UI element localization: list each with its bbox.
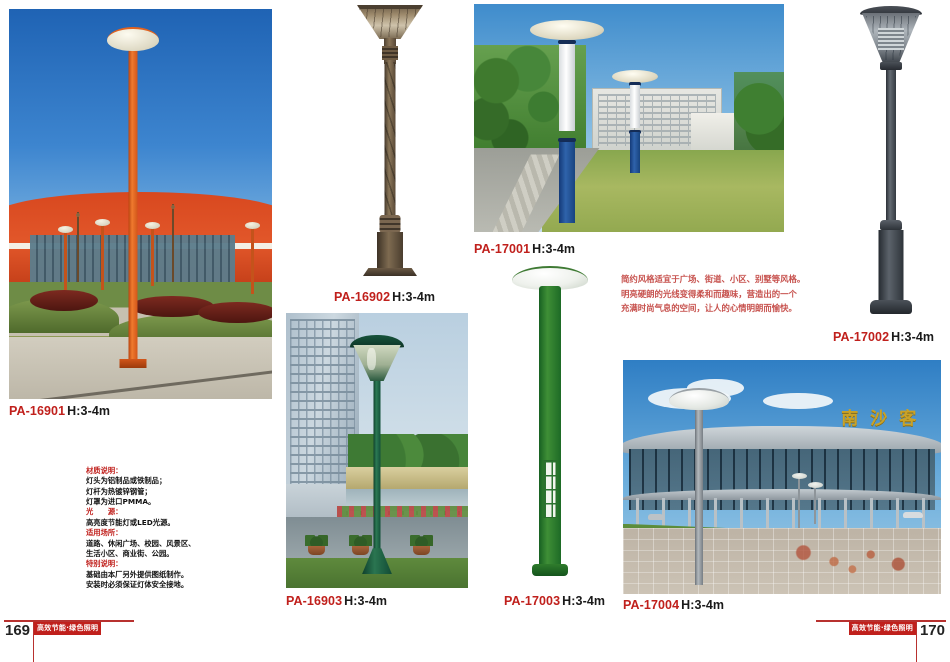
lamp-post-far [630, 79, 640, 173]
product-code: PA-17001 [474, 242, 530, 256]
lamp-post-near [559, 34, 575, 223]
base-plate [363, 268, 417, 276]
product-height: H:3-4m [681, 598, 724, 612]
product-height: H:3-4m [392, 290, 435, 304]
paving-pattern [782, 543, 935, 576]
reflector-louvers [878, 28, 904, 50]
blue-pole-base [630, 132, 640, 173]
product-photo-pa-16903 [286, 313, 468, 588]
caption-pa-16901: PA-16901H:3-4m [9, 404, 110, 418]
product-code: PA-16901 [9, 404, 65, 418]
lamp-dome [530, 20, 604, 40]
catalog-page: PA-16901H:3-4m PA-16902H:3-4m [0, 0, 950, 654]
parked-car [648, 514, 664, 520]
lamp-base [879, 230, 904, 302]
product-code: PA-17004 [623, 598, 679, 612]
spec-line: 安装时必须保证灯体安全接地。 [86, 580, 195, 590]
lamp-post-pole [374, 379, 381, 569]
product-height: H:3-4m [67, 404, 110, 418]
base-collar [880, 220, 902, 230]
spec-line: 灯罩为进口PMMA。 [86, 497, 195, 507]
spec-heading-special-note: 特别说明： [86, 559, 195, 569]
spec-line: 生活小区、商业街、公园。 [86, 549, 195, 559]
product-photo-pa-16902 [325, 2, 455, 282]
spec-line: 高亮度节能灯或LED光源。 [86, 518, 195, 528]
pergola [346, 467, 468, 489]
red-shrub [198, 302, 272, 323]
cloud [763, 393, 833, 409]
background-lamp [151, 227, 154, 286]
lantern-base [880, 62, 902, 70]
product-height: H:3-4m [344, 594, 387, 608]
product-code: PA-17002 [833, 330, 889, 344]
product-photo-pa-17001 [474, 4, 784, 232]
lamp-post-pole [886, 70, 896, 222]
lamp-dome [107, 27, 159, 51]
page-number-left: 169 [5, 622, 30, 639]
caption-pa-17002: PA-17002H:3-4m [833, 330, 934, 344]
base-plate [532, 564, 568, 576]
blue-pole-base [559, 142, 575, 223]
caption-pa-16902: PA-16902H:3-4m [334, 290, 435, 304]
base-collar [380, 215, 401, 233]
potted-plant [413, 544, 430, 555]
footer-left: 169 高效节能·绿色照明 [0, 608, 190, 654]
blurb-line: 充满时尚气息的空间，让人的心情明朗而愉快。 [621, 301, 805, 316]
lamp-base [377, 232, 403, 270]
spec-line: 灯杆为热镀锌钢管； [86, 487, 195, 497]
base-plate [870, 300, 912, 314]
lamp-post-pole [539, 286, 561, 566]
potted-plant [352, 544, 369, 555]
blurb-line: 明亮硬朗的光线变得柔和而趣味，营造出的一个 [621, 287, 805, 302]
footer-brand-right: 高效节能·绿色照明 [849, 622, 916, 635]
product-photo-pa-17004: 南沙客 [623, 360, 941, 594]
product-photo-pa-17002 [838, 2, 944, 320]
background-lamp [101, 224, 104, 290]
caption-pa-17003: PA-17003H:3-4m [504, 594, 605, 608]
lamp-post-pole [128, 32, 137, 367]
illuminated-grid-window [544, 460, 557, 518]
caption-pa-16903: PA-16903H:3-4m [286, 594, 387, 608]
product-code: PA-17003 [504, 594, 560, 608]
illuminated-shaft [559, 44, 575, 131]
product-photo-pa-17003 [495, 258, 605, 588]
spec-heading-applications: 适用场所： [86, 528, 195, 538]
spec-heading-material: 材质说明： [86, 466, 195, 476]
spec-heading-light-source: 光 源： [86, 507, 195, 517]
background-lamp [251, 227, 254, 293]
marketing-blurb: 简约风格适宜于广场、街道、小区、别墅等风格。 明亮硬朗的光线变得柔和而趣味，营造… [621, 272, 805, 316]
lamp-dome [669, 388, 729, 410]
pole-twist-pattern [385, 62, 396, 217]
spec-line: 灯头为铝制品或铁制品； [86, 476, 195, 486]
background-lamp [64, 231, 67, 290]
background-lamp [814, 486, 817, 523]
lamp-head [350, 335, 404, 383]
specification-block: 材质说明： 灯头为铝制品或铁制品； 灯杆为热镀锌钢管； 灯罩为进口PMMA。 光… [86, 466, 195, 590]
bare-tree [77, 212, 79, 282]
parked-car [903, 512, 923, 518]
bare-tree [172, 204, 174, 282]
caption-pa-17001: PA-17001H:3-4m [474, 242, 575, 256]
potted-plant [308, 544, 325, 555]
product-height: H:3-4m [532, 242, 575, 256]
blurb-line: 简约风格适宜于广场、街道、小区、别墅等风格。 [621, 272, 805, 287]
lamp-shade [353, 345, 401, 381]
background-lamp [798, 477, 801, 528]
spec-line: 基础由本厂另外提供图纸制作。 [86, 570, 195, 580]
caption-pa-17004: PA-17004H:3-4m [623, 598, 724, 612]
shade-ribs [359, 9, 421, 37]
decorative-rings [382, 46, 398, 60]
product-photo-pa-16901 [9, 9, 272, 399]
footer-brand-left: 高效节能·绿色照明 [34, 622, 101, 635]
product-height: H:3-4m [562, 594, 605, 608]
lamp-post-pole [695, 395, 703, 585]
footer-tick [916, 622, 917, 662]
spec-line: 道路、休闲广场、校园、风景区、 [86, 539, 195, 549]
footer-tick [33, 622, 34, 662]
illuminated-shaft [630, 85, 640, 128]
product-height: H:3-4m [891, 330, 934, 344]
page-number-right: 170 [920, 622, 945, 639]
product-code: PA-16902 [334, 290, 390, 304]
product-code: PA-16903 [286, 594, 342, 608]
footer-right: 170 高效节能·绿色照明 [760, 608, 950, 654]
support-columns [636, 498, 929, 528]
